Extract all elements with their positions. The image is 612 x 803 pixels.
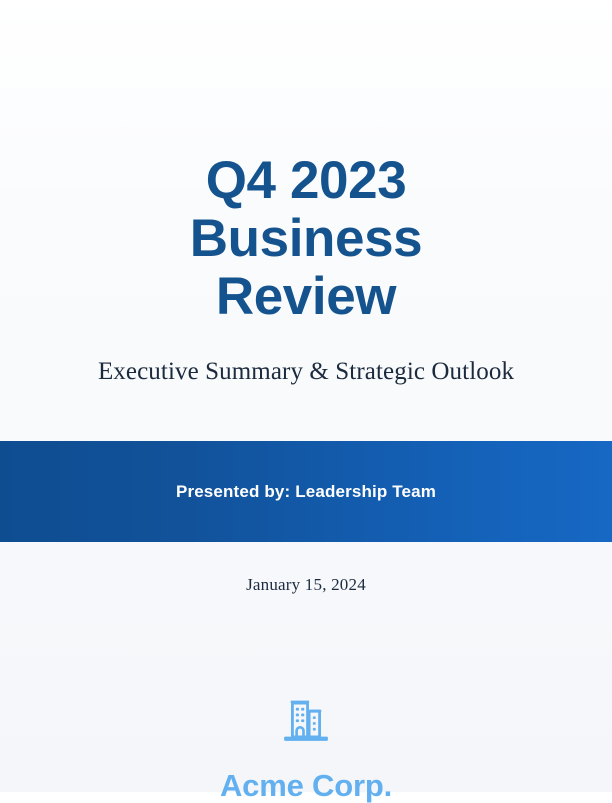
presenter-label: Presented by: Leadership Team — [176, 482, 436, 502]
top-spacer — [0, 0, 612, 152]
company-name: Acme Corp. — [220, 769, 392, 803]
building-icon — [281, 694, 331, 744]
title-block: Q4 2023 Business Review Executive Summar… — [0, 152, 612, 387]
presenter-banner: Presented by: Leadership Team — [0, 441, 612, 542]
date-row: January 15, 2024 — [0, 575, 612, 595]
title-slide: Q4 2023 Business Review Executive Summar… — [0, 0, 612, 792]
banner-gap — [0, 387, 612, 441]
page-title: Q4 2023 Business Review — [96, 152, 516, 326]
page-subtitle: Executive Summary & Strategic Outlook — [56, 357, 556, 387]
presentation-date: January 15, 2024 — [246, 575, 366, 594]
company-block: Acme Corp. — [0, 694, 612, 803]
company-logo-wrap — [281, 694, 331, 744]
